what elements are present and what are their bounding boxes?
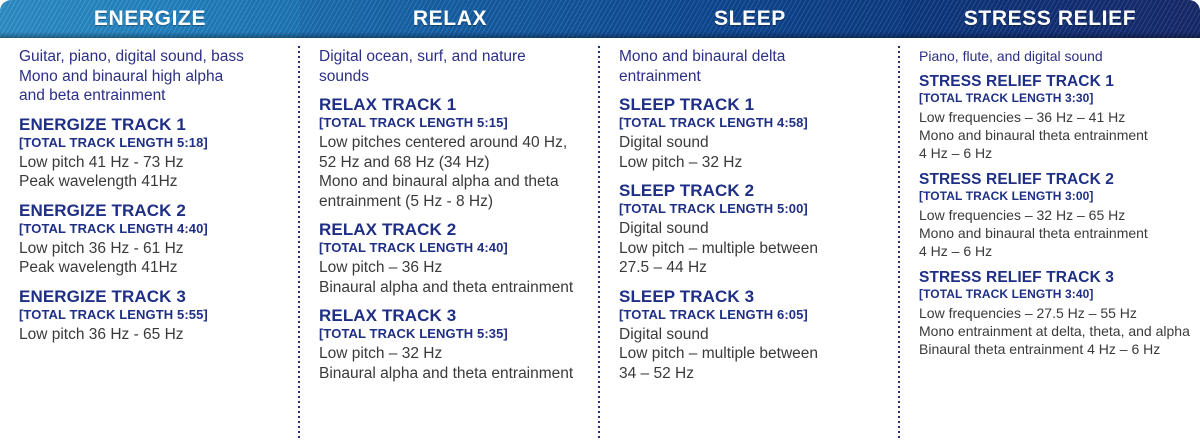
track-length: [TOTAL TRACK LENGTH 5:35] [319,326,586,342]
track-title: SLEEP TRACK 3 [619,287,886,307]
column-stress-relief: Piano, flute, and digital sound STRESS R… [900,38,1200,444]
column-header-label: ENERGIZE [94,7,206,31]
track-details: Low pitch 36 Hz - 65 Hz [19,325,286,345]
track-entry: RELAX TRACK 1 [TOTAL TRACK LENGTH 5:15] … [319,95,586,211]
track-details: Low pitch 41 Hz - 73 HzPeak wavelength 4… [19,153,286,192]
track-length: [TOTAL TRACK LENGTH 6:05] [619,307,886,323]
track-title: ENERGIZE TRACK 1 [19,115,286,135]
column-relax: Digital ocean, surf, and naturesounds RE… [300,38,600,444]
track-length: [TOTAL TRACK LENGTH 3:40] [919,287,1192,302]
track-details: Low frequencies – 27.5 Hz – 55 HzMono en… [919,304,1192,358]
column-header-sleep: SLEEP [600,0,900,38]
track-details: Low pitch 36 Hz - 61 HzPeak wavelength 4… [19,239,286,278]
track-length: [TOTAL TRACK LENGTH 5:00] [619,201,886,217]
column-header-stress-relief: STRESS RELIEF [900,0,1200,38]
table-header-row: ENERGIZE RELAX SLEEP STRESS RELIEF [0,0,1200,38]
track-length: [TOTAL TRACK LENGTH 5:15] [319,115,586,131]
track-length: [TOTAL TRACK LENGTH 5:18] [19,135,286,151]
track-entry: RELAX TRACK 3 [TOTAL TRACK LENGTH 5:35] … [319,306,586,383]
track-entry: ENERGIZE TRACK 2 [TOTAL TRACK LENGTH 4:4… [19,201,286,278]
column-intro-text: Mono and binaural deltaentrainment [619,47,886,86]
column-header-label: SLEEP [714,7,786,31]
track-entry: ENERGIZE TRACK 3 [TOTAL TRACK LENGTH 5:5… [19,287,286,345]
track-title: STRESS RELIEF TRACK 1 [919,72,1192,91]
track-entry: STRESS RELIEF TRACK 1 [TOTAL TRACK LENGT… [919,72,1192,162]
column-header-label: STRESS RELIEF [964,7,1136,31]
track-title: ENERGIZE TRACK 2 [19,201,286,221]
track-length: [TOTAL TRACK LENGTH 4:40] [319,240,586,256]
column-header-energize: ENERGIZE [0,0,300,38]
track-details: Digital soundLow pitch – multiple betwee… [619,325,886,384]
track-title: ENERGIZE TRACK 3 [19,287,286,307]
track-title: RELAX TRACK 3 [319,306,586,326]
track-details: Low pitch – 32 HzBinaural alpha and thet… [319,344,586,383]
track-title: RELAX TRACK 2 [319,220,586,240]
track-title: SLEEP TRACK 1 [619,95,886,115]
track-entry: SLEEP TRACK 3 [TOTAL TRACK LENGTH 6:05] … [619,287,886,384]
audio-program-comparison-table: ENERGIZE RELAX SLEEP STRESS RELIEF Guita… [0,0,1200,444]
track-entry: RELAX TRACK 2 [TOTAL TRACK LENGTH 4:40] … [319,220,586,297]
column-energize: Guitar, piano, digital sound, bassMono a… [0,38,300,444]
track-entry: SLEEP TRACK 1 [TOTAL TRACK LENGTH 4:58] … [619,95,886,172]
track-details: Low pitch – 36 HzBinaural alpha and thet… [319,258,586,297]
track-details: Low frequencies – 36 Hz – 41 HzMono and … [919,108,1192,162]
track-title: SLEEP TRACK 2 [619,181,886,201]
track-length: [TOTAL TRACK LENGTH 3:00] [919,189,1192,204]
column-intro-text: Digital ocean, surf, and naturesounds [319,47,586,86]
track-title: RELAX TRACK 1 [319,95,586,115]
track-title: STRESS RELIEF TRACK 3 [919,268,1192,287]
track-entry: STRESS RELIEF TRACK 3 [TOTAL TRACK LENGT… [919,268,1192,358]
track-details: Low pitches centered around 40 Hz,52 Hz … [319,133,586,211]
track-length: [TOTAL TRACK LENGTH 4:40] [19,221,286,237]
track-details: Digital soundLow pitch – 32 Hz [619,133,886,172]
column-sleep: Mono and binaural deltaentrainment SLEEP… [600,38,900,444]
track-entry: STRESS RELIEF TRACK 2 [TOTAL TRACK LENGT… [919,170,1192,260]
column-intro-text: Guitar, piano, digital sound, bassMono a… [19,47,286,106]
track-entry: SLEEP TRACK 2 [TOTAL TRACK LENGTH 5:00] … [619,181,886,278]
track-length: [TOTAL TRACK LENGTH 4:58] [619,115,886,131]
track-details: Low frequencies – 32 Hz – 65 HzMono and … [919,206,1192,260]
track-length: [TOTAL TRACK LENGTH 5:55] [19,307,286,323]
column-header-relax: RELAX [300,0,600,38]
track-length: [TOTAL TRACK LENGTH 3:30] [919,91,1192,106]
column-intro-text: Piano, flute, and digital sound [919,47,1192,65]
track-entry: ENERGIZE TRACK 1 [TOTAL TRACK LENGTH 5:1… [19,115,286,192]
track-title: STRESS RELIEF TRACK 2 [919,170,1192,189]
table-body-row: Guitar, piano, digital sound, bassMono a… [0,38,1200,444]
track-details: Digital soundLow pitch – multiple betwee… [619,219,886,278]
column-header-label: RELAX [413,7,487,31]
